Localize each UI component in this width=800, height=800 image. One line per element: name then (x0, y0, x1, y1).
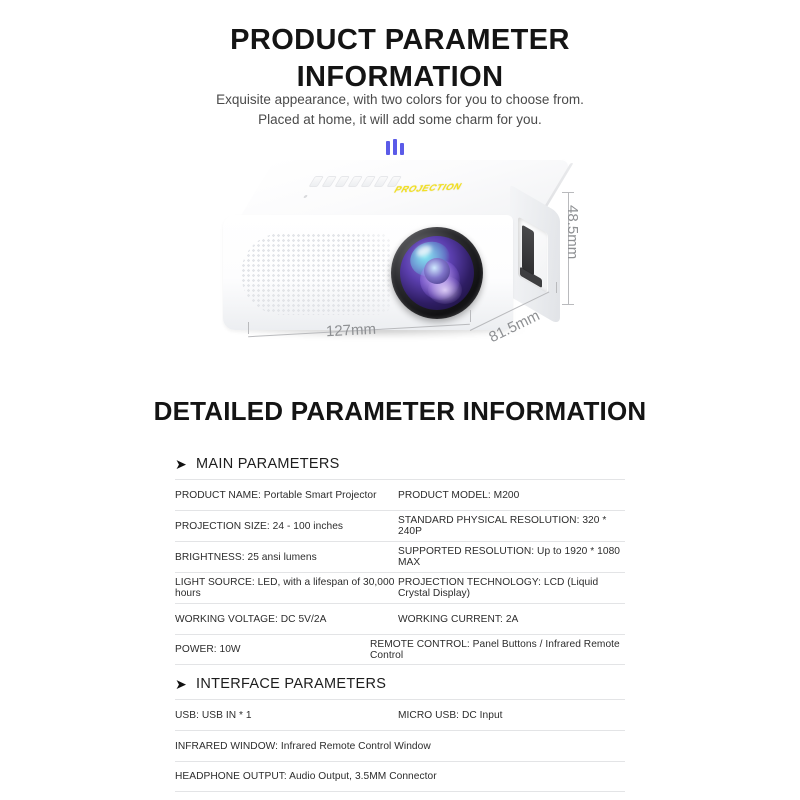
main-parameters-heading-label: MAIN PARAMETERS (196, 456, 340, 472)
arrow-right-icon: ➤ (175, 457, 187, 471)
table-row: PRODUCT NAME: Portable Smart Projector P… (175, 479, 625, 510)
projector-lens (391, 227, 483, 319)
projector-body: PROJECTION (200, 155, 620, 370)
dimension-label-height: 48.5mm (564, 205, 581, 259)
interface-parameters-heading-label: INTERFACE PARAMETERS (196, 676, 386, 692)
page-title-line1: PRODUCT PARAMETER (0, 22, 800, 59)
interface-parameters-heading: ➤ INTERFACE PARAMETERS (175, 676, 625, 699)
table-row: POWER: 10W REMOTE CONTROL: Panel Buttons… (175, 634, 625, 665)
spec-cell-left: BRIGHTNESS: 25 ansi lumens (175, 552, 398, 563)
main-parameters-heading: ➤ MAIN PARAMETERS (175, 456, 625, 479)
dimension-cap-depth (556, 282, 557, 293)
dimension-cap-width-left (248, 322, 249, 334)
product-image: PROJECTION (200, 155, 620, 370)
table-row: BRIGHTNESS: 25 ansi lumens SUPPORTED RES… (175, 541, 625, 572)
spec-cell-left: WORKING VOLTAGE: DC 5V/2A (175, 614, 398, 625)
table-row: INFRARED WINDOW: Infrared Remote Control… (175, 730, 625, 761)
spec-cell-right: PROJECTION TECHNOLOGY: LCD (Liquid Cryst… (398, 577, 625, 599)
spec-cell-left: LIGHT SOURCE: LED, with a lifespan of 30… (175, 577, 398, 599)
dimension-cap-width-right (470, 310, 471, 322)
interface-parameters-block: ➤ INTERFACE PARAMETERS USB: USB IN * 1 M… (175, 676, 625, 792)
speaker-grille (241, 233, 391, 315)
table-row: LIGHT SOURCE: LED, with a lifespan of 30… (175, 572, 625, 603)
lens-core (424, 258, 450, 284)
product-spec-page: PRODUCT PARAMETER INFORMATION Exquisite … (0, 0, 800, 800)
page-subtitle: Exquisite appearance, with two colors fo… (0, 90, 800, 129)
brand-bar-3 (400, 143, 404, 155)
main-parameters-block: ➤ MAIN PARAMETERS PRODUCT NAME: Portable… (175, 456, 625, 665)
spec-cell-left: USB: USB IN * 1 (175, 710, 398, 721)
lens-glass (400, 236, 474, 310)
table-row: PROJECTION SIZE: 24 - 100 inches STANDAR… (175, 510, 625, 541)
spec-cell-right: SUPPORTED RESOLUTION: Up to 1920 * 1080 … (398, 546, 625, 568)
dimension-cap-height-bottom (562, 304, 574, 305)
brand-bars-icon (386, 139, 404, 155)
spec-cell-right: PRODUCT MODEL: M200 (398, 490, 625, 501)
control-buttons (307, 173, 409, 189)
table-row: USB: USB IN * 1 MICRO USB: DC Input (175, 699, 625, 730)
table-row: HEADPHONE OUTPUT: Audio Output, 3.5MM Co… (175, 761, 625, 792)
spec-cell-left: PRODUCT NAME: Portable Smart Projector (175, 490, 398, 501)
spec-cell-right: STANDARD PHYSICAL RESOLUTION: 320 * 240P (398, 515, 625, 537)
dimension-cap-height-top (562, 192, 574, 193)
page-title: PRODUCT PARAMETER INFORMATION (0, 22, 800, 96)
detailed-section-title: DETAILED PARAMETER INFORMATION (0, 396, 800, 427)
spec-cell-right: REMOTE CONTROL: Panel Buttons / Infrared… (370, 639, 625, 661)
spec-cell-left: POWER: 10W (175, 644, 398, 655)
spec-cell-left: PROJECTION SIZE: 24 - 100 inches (175, 521, 398, 532)
arrow-right-icon: ➤ (175, 677, 187, 691)
spec-cell-left: HEADPHONE OUTPUT: Audio Output, 3.5MM Co… (175, 771, 625, 782)
page-subtitle-line2: Placed at home, it will add some charm f… (0, 110, 800, 130)
spec-cell-left: INFRARED WINDOW: Infrared Remote Control… (175, 741, 625, 752)
brand-bar-1 (386, 141, 390, 155)
brand-bar-2 (393, 139, 397, 155)
page-subtitle-line1: Exquisite appearance, with two colors fo… (0, 90, 800, 110)
spec-cell-right: WORKING CURRENT: 2A (398, 614, 625, 625)
table-row: WORKING VOLTAGE: DC 5V/2A WORKING CURREN… (175, 603, 625, 634)
spec-cell-right: MICRO USB: DC Input (398, 710, 625, 721)
dimension-label-width: 127mm (326, 321, 377, 341)
